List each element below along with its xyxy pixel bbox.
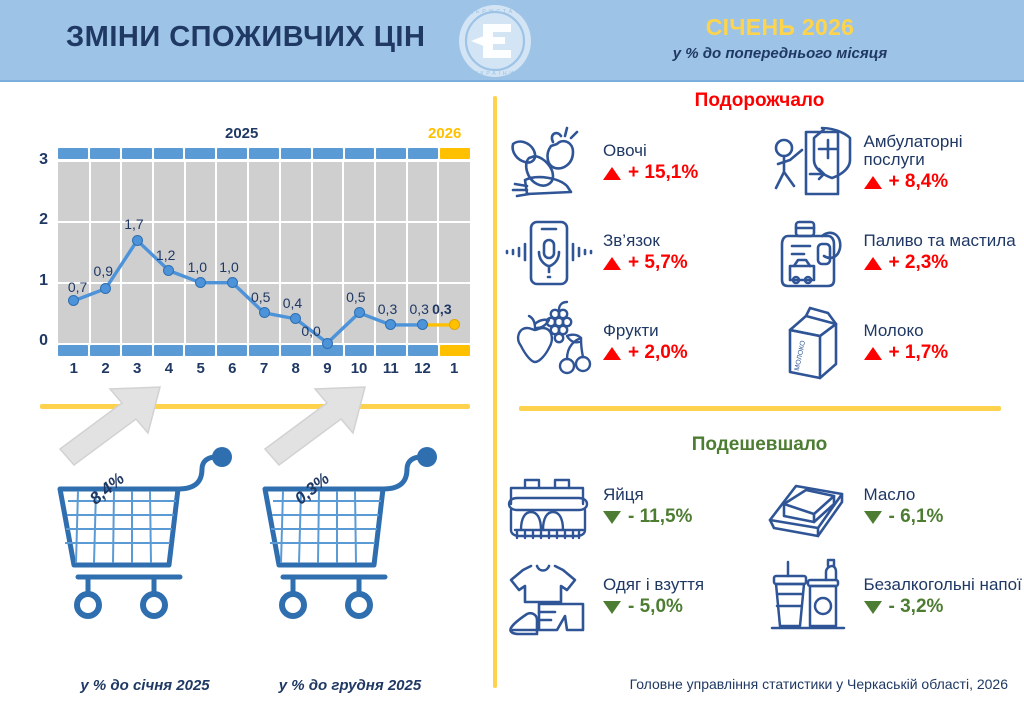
cpi-line-chart: 2025 2026 0123 1234567891011121 0,70,91,… [0,82,495,382]
vegetables-icon [503,121,595,205]
page-title: ЗМІНИ СПОЖИВЧИХ ЦІН [66,21,425,54]
price-item-value: - 6,1% [864,506,1024,528]
price-item-text: Зв’язок+ 5,7% [603,232,764,275]
footer-credit: Головне управління статистики у Черкаськ… [0,676,1008,692]
left-column: 2025 2026 0123 1234567891011121 0,70,91,… [0,82,495,703]
price-item-text: Паливо та мастила+ 2,3% [864,232,1024,275]
right-column: Подорожчало Овочі+ 15,1%Амбулаторні посл… [495,82,1024,703]
price-item-value-text: - 5,0% [628,596,683,618]
cart-comparison-section: 8,4% у % до січня 2025 [0,427,495,703]
price-item-value-text: + 15,1% [628,162,698,184]
chart-point-2 [132,235,143,246]
price-item: МОЛОКОМолоко+ 1,7% [764,298,1024,388]
price-item-name: Овочі [603,142,764,160]
price-item: Овочі+ 15,1% [503,118,764,208]
triangle-up-icon [864,347,882,360]
price-item-text: Овочі+ 15,1% [603,142,764,185]
price-item-value: + 1,7% [864,342,1024,364]
price-item: Масло- 6,1% [764,462,1024,552]
price-item-value-text: + 2,3% [889,252,949,274]
chart-value-label-5: 1,0 [219,259,238,275]
triangle-up-icon [603,257,621,270]
price-item-text: Масло- 6,1% [864,486,1024,529]
price-item-value-text: - 6,1% [889,506,944,528]
price-item: Фрукти+ 2,0% [503,298,764,388]
chart-value-label-2: 1,7 [124,216,143,232]
price-item-name: Зв’язок [603,232,764,250]
price-item-name: Одяг і взуття [603,576,764,594]
chart-point-12 [449,319,460,330]
price-item-text: Фрукти+ 2,0% [603,322,764,365]
ambulatory-services-icon [764,121,856,205]
chart-point-9 [354,307,365,318]
price-item-value: + 15,1% [603,162,764,184]
price-item-value: - 3,2% [864,596,1024,618]
header-period: СІЧЕНЬ 2026 у % до попереднього місяця [560,14,1000,62]
clothing-footwear-icon [503,555,595,639]
eggs-icon [503,465,595,549]
increased-items-grid: Овочі+ 15,1%Амбулаторні послуги+ 8,4%Зв’… [503,118,1024,388]
price-item-value-text: - 11,5% [628,506,692,528]
chart-value-label-4: 1,0 [188,259,207,275]
price-item-text: Молоко+ 1,7% [864,322,1024,365]
chart-value-label-12: 0,3 [432,301,451,317]
chart-value-label-8: 0,0 [301,323,320,339]
price-item-name: Яйця [603,486,764,504]
price-item-text: Одяг і взуття- 5,0% [603,576,764,619]
svg-text:МОЛОКО: МОЛОКО [793,339,806,371]
svg-text:УКРАЇНИ: УКРАЇНИ [474,70,516,77]
price-item-value-text: + 5,7% [628,252,688,274]
cart-block-vs-january: 8,4% у % до січня 2025 [30,427,260,667]
fuel-oil-icon [764,211,856,295]
shopping-cart-icon [30,427,260,667]
price-item-text: Яйця- 11,5% [603,486,764,529]
butter-icon [764,465,856,549]
chart-point-6 [259,307,270,318]
chart-value-label-9: 0,5 [346,289,365,305]
right-horizontal-divider [519,406,1001,411]
price-item-value: - 5,0% [603,596,764,618]
chart-point-8 [322,338,333,349]
price-item-name: Масло [864,486,1024,504]
communication-icon [503,211,595,295]
shopping-cart-icon [235,427,465,667]
triangle-down-icon [864,601,882,614]
milk-carton-icon: МОЛОКО [764,301,856,385]
price-item-value-text: - 3,2% [889,596,944,618]
fruits-icon [503,301,595,385]
triangle-up-icon [864,176,882,189]
chart-point-5 [227,277,238,288]
chart-value-label-11: 0,3 [409,301,428,317]
chart-value-label-6: 0,5 [251,289,270,305]
chart-line-path [0,82,495,382]
chart-value-label-10: 0,3 [378,301,397,317]
chart-value-label-0: 0,7 [68,279,87,295]
triangle-down-icon [603,601,621,614]
increased-panel-title: Подорожчало [495,90,1024,112]
decreased-items-grid: Яйця- 11,5%Масло- 6,1%Одяг і взуття- 5,0… [503,462,1024,642]
price-item-value: - 11,5% [603,506,764,528]
derzhstat-ukrainy-logo: ДЕРЖСТАТ УКРАЇНИ [455,2,535,80]
price-item-text: Амбулаторні послуги+ 8,4% [864,133,1024,194]
price-item-name: Безалкогольні напої [864,576,1024,594]
triangle-down-icon [864,511,882,524]
chart-value-label-7: 0,4 [283,295,302,311]
triangle-up-icon [603,347,621,360]
chart-value-label-3: 1,2 [156,247,175,263]
price-item-value: + 2,0% [603,342,764,364]
chart-value-label-1: 0,9 [94,263,113,279]
price-item: Яйця- 11,5% [503,462,764,552]
price-item-name: Амбулаторні послуги [864,133,1024,169]
price-item-value-text: + 1,7% [889,342,949,364]
triangle-up-icon [603,167,621,180]
price-item: Одяг і взуття- 5,0% [503,552,764,642]
cart-block-vs-december: 0,3% у % до грудня 2025 [235,427,465,667]
left-horizontal-divider [40,404,470,409]
price-item: Безалкогольні напої- 3,2% [764,552,1024,642]
soft-drinks-icon [764,555,856,639]
price-item-text: Безалкогольні напої- 3,2% [864,576,1024,619]
price-item-value-text: + 2,0% [628,342,688,364]
header-month: СІЧЕНЬ 2026 [560,14,1000,41]
price-item-value: + 8,4% [864,171,1024,193]
price-item-name: Паливо та мастила [864,232,1024,250]
price-item: Зв’язок+ 5,7% [503,208,764,298]
price-item-value: + 5,7% [603,252,764,274]
svg-text:ДЕРЖСТАТ: ДЕРЖСТАТ [470,9,521,15]
header-subtitle: у % до попереднього місяця [560,45,1000,62]
triangle-down-icon [603,511,621,524]
price-item-name: Молоко [864,322,1024,340]
triangle-up-icon [864,257,882,270]
page-header: ЗМІНИ СПОЖИВЧИХ ЦІН ДЕРЖСТАТ УКРАЇНИ СІЧ… [0,0,1024,82]
price-item-name: Фрукти [603,322,764,340]
price-item: Амбулаторні послуги+ 8,4% [764,118,1024,208]
price-item: Паливо та мастила+ 2,3% [764,208,1024,298]
price-item-value: + 2,3% [864,252,1024,274]
price-item-value-text: + 8,4% [889,171,949,193]
decreased-panel-title: Подешевшало [495,434,1024,456]
